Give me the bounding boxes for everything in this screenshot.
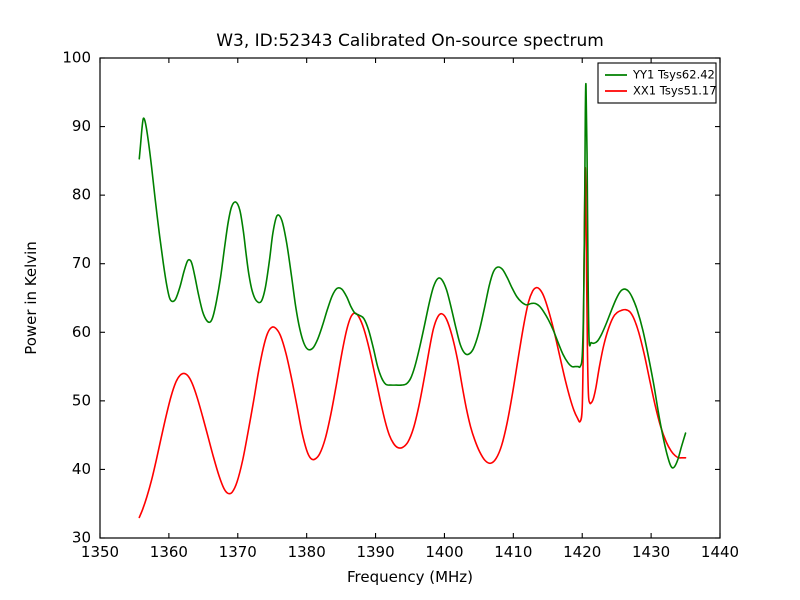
y-tick-label: 50 [72, 391, 91, 409]
legend-label: XX1 Tsys51.17 [633, 84, 717, 98]
x-tick-label: 1430 [632, 543, 670, 561]
x-tick-label: 1380 [288, 543, 326, 561]
x-axis-label: Frequency (MHz) [347, 568, 473, 586]
y-tick-label: 80 [72, 186, 91, 204]
page-title: W3, ID:52343 Calibrated On-source spectr… [216, 31, 604, 51]
y-tick-label: 60 [72, 323, 91, 341]
x-tick-label: 1400 [425, 543, 463, 561]
x-tick-label: 1420 [563, 543, 601, 561]
x-tick-label: 1410 [494, 543, 532, 561]
x-tick-label: 1360 [150, 543, 188, 561]
y-tick-label: 90 [72, 117, 91, 135]
y-tick-label: 40 [72, 460, 91, 478]
y-axis-label: Power in Kelvin [22, 241, 40, 355]
x-tick-label: 1440 [701, 543, 739, 561]
y-tick-label: 30 [72, 529, 91, 547]
x-tick-label: 1370 [219, 543, 257, 561]
spectrum-plot: 1350136013701380139014001410142014301440… [0, 0, 800, 600]
y-tick-label: 70 [72, 254, 91, 272]
legend-label: YY1 Tsys62.42 [632, 68, 715, 82]
y-tick-label: 100 [62, 49, 91, 67]
legend: YY1 Tsys62.42XX1 Tsys51.17 [598, 63, 717, 103]
x-tick-label: 1390 [356, 543, 394, 561]
figure-canvas: 1350136013701380139014001410142014301440… [0, 0, 800, 600]
